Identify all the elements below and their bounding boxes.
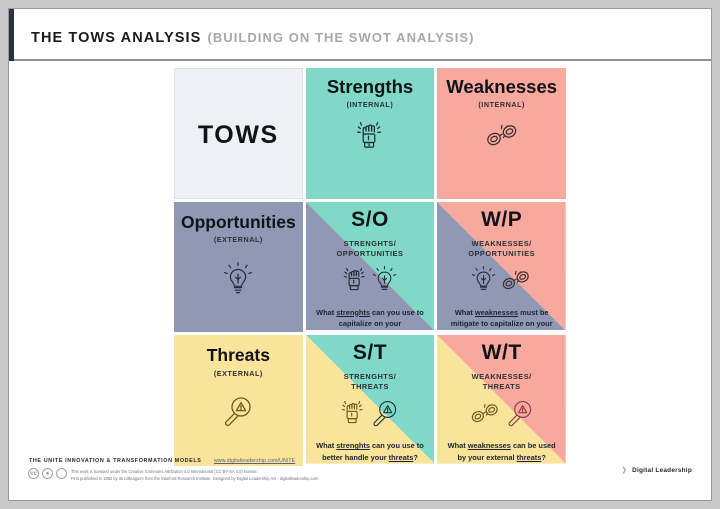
cell-weaknesses[interactable]: Weaknesses (INTERNAL): [437, 68, 566, 199]
lightbulb-icon: [223, 261, 253, 302]
footer-title: THE UNITE INNOVATION & TRANSFORMATION MO…: [29, 458, 202, 464]
page-title: THE TOWS ANALYSIS(BUILDING ON THE SWOT A…: [31, 29, 474, 47]
chevron-right-icon: ❯: [621, 466, 627, 474]
cell-opportunities[interactable]: Opportunities (EXTERNAL): [174, 202, 303, 333]
cell-wt-icons: [469, 398, 535, 433]
footer-fineprint: This work is licensed under the Creative…: [71, 468, 318, 482]
cell-wp-subtitle: WEAKNESSES/OPPORTUNITIES: [468, 239, 535, 259]
cc-icon: cc: [28, 468, 39, 479]
cell-wt-question: What weaknesses can be used by your exte…: [437, 440, 566, 463]
slide-header: THE TOWS ANALYSIS(BUILDING ON THE SWOT A…: [9, 9, 711, 61]
cell-threats-subtitle: (EXTERNAL): [214, 369, 263, 379]
cell-threats[interactable]: Threats (EXTERNAL): [174, 335, 303, 466]
cell-tows-title: TOWS: [198, 122, 279, 148]
cell-st-subtitle: STRENGHTS/THREATS: [344, 372, 397, 392]
slide-canvas: THE TOWS ANALYSIS(BUILDING ON THE SWOT A…: [8, 8, 712, 501]
cell-tows[interactable]: TOWS: [174, 68, 303, 199]
lightbulb-icon: [372, 265, 397, 300]
magnifier-warning-icon: [221, 394, 255, 433]
cell-wp-icons: [471, 265, 532, 300]
magnifier-warning-icon: [370, 398, 400, 433]
cell-opportunities-icons: [223, 261, 253, 302]
fist-icon: [340, 398, 366, 433]
creative-commons-badges: cc ●: [28, 468, 67, 479]
cell-so-icons: [342, 265, 397, 300]
tows-matrix: TOWS Strengths (INTERNAL): [174, 68, 566, 466]
cell-wt-subtitle: WEAKNESSES/THREATS: [472, 372, 532, 392]
cell-wp-question: What weaknesses must be mitigate to capi…: [437, 307, 566, 333]
cell-so[interactable]: S/O STRENGHTS/OPPORTUNITIES: [306, 202, 435, 333]
cell-so-subtitle: STRENGHTS/OPPORTUNITIES: [337, 239, 404, 259]
cc-by-icon: ●: [42, 468, 53, 479]
cell-threats-icons: [221, 394, 255, 433]
cell-st-question: What strenghts can you use to better han…: [306, 440, 435, 463]
cell-weaknesses-subtitle: (INTERNAL): [478, 100, 525, 110]
page-title-main: THE TOWS ANALYSIS: [31, 30, 201, 46]
brand-logo: ❯ Digital Leadership: [621, 466, 692, 474]
page-title-sub: (BUILDING ON THE SWOT ANALYSIS): [207, 30, 474, 45]
magnifier-warning-icon: [505, 398, 535, 433]
broken-chain-icon: [500, 268, 532, 297]
lightbulb-icon: [471, 265, 496, 300]
header-accent-bar: [9, 9, 14, 61]
cell-st-title: S/T: [353, 342, 387, 364]
footer-license-line: This work is licensed under the Creative…: [71, 468, 318, 475]
cell-weaknesses-icons: [484, 122, 520, 153]
cell-strengths[interactable]: Strengths (INTERNAL): [306, 68, 435, 199]
cell-st[interactable]: S/T STRENGHTS/THREATS: [306, 335, 435, 466]
fist-icon: [355, 119, 385, 158]
cell-strengths-subtitle: (INTERNAL): [347, 100, 394, 110]
cell-strengths-icons: [355, 119, 385, 158]
cell-st-icons: [340, 398, 400, 433]
cell-opportunities-title: Opportunities: [181, 213, 296, 231]
cc-sa-icon: [56, 468, 67, 479]
cell-opportunities-subtitle: (EXTERNAL): [214, 235, 263, 245]
cell-weaknesses-title: Weaknesses: [446, 77, 557, 96]
broken-chain-icon: [469, 401, 501, 430]
cell-strengths-title: Strengths: [327, 77, 413, 96]
cell-so-question: What strenghts can you use to capitalize…: [306, 307, 435, 333]
cell-wt-title: W/T: [482, 342, 522, 364]
footer-link[interactable]: www.digitalleadership.com/UNITE: [214, 458, 295, 464]
footer-attribution-line: First published in 1982 by its colleague…: [71, 475, 318, 482]
brand-name: Digital Leadership: [632, 467, 692, 474]
cell-threats-title: Threats: [207, 346, 270, 364]
cell-so-title: S/O: [351, 209, 389, 231]
broken-chain-icon: [484, 122, 520, 153]
cell-wt[interactable]: W/T WEAKNESSES/THREATS: [437, 335, 566, 466]
cell-wp[interactable]: W/P WEAKNESSES/OPPORTUNITIES: [437, 202, 566, 333]
cell-wp-title: W/P: [481, 209, 522, 231]
fist-icon: [342, 265, 368, 300]
